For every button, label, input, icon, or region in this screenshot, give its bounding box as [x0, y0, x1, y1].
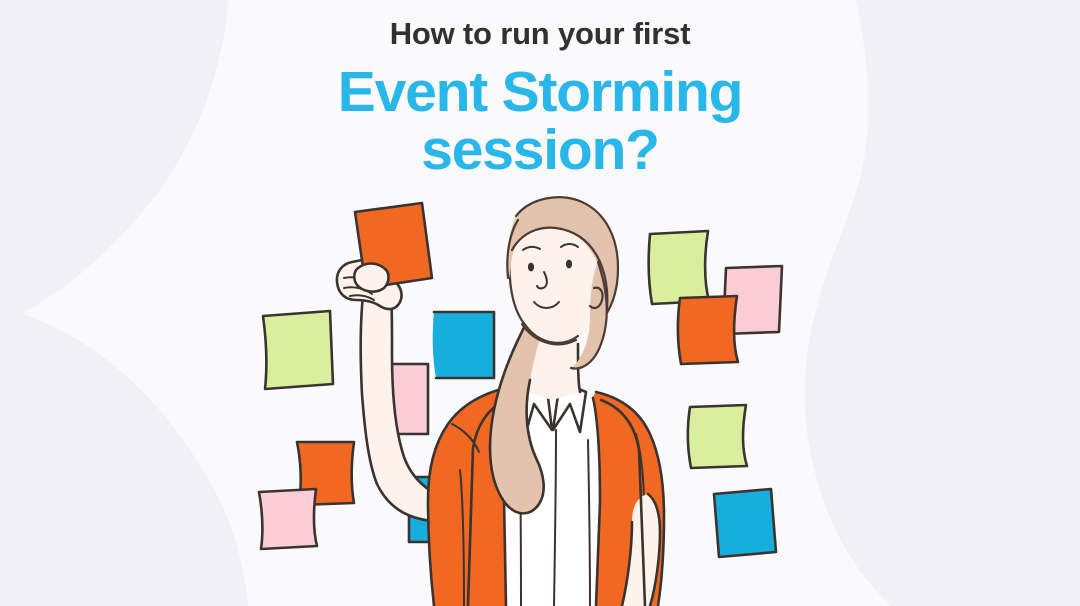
- headline-title: Event Storming session?: [0, 63, 1080, 179]
- eye-left: [528, 263, 534, 272]
- headline-kicker: How to run your first: [0, 18, 1080, 49]
- headline-title-line2: session?: [0, 121, 1080, 179]
- sticky-note-right-blue-low: [714, 489, 776, 557]
- headline-title-line1: Event Storming: [338, 60, 742, 124]
- headline-block: How to run your first Event Storming ses…: [0, 18, 1080, 179]
- eye-right: [566, 260, 572, 269]
- sticky-note-right-orange: [678, 296, 738, 364]
- sticky-note-right-green-low: [688, 405, 747, 468]
- sticky-note-right-green-top: [649, 231, 709, 304]
- sticky-note-mid-blue: [433, 312, 494, 378]
- character-body: [337, 197, 664, 606]
- sticky-note-left-green: [263, 311, 333, 389]
- banner-canvas: How to run your first Event Storming ses…: [0, 0, 1080, 606]
- sticky-note-left-lower-pink: [259, 489, 317, 549]
